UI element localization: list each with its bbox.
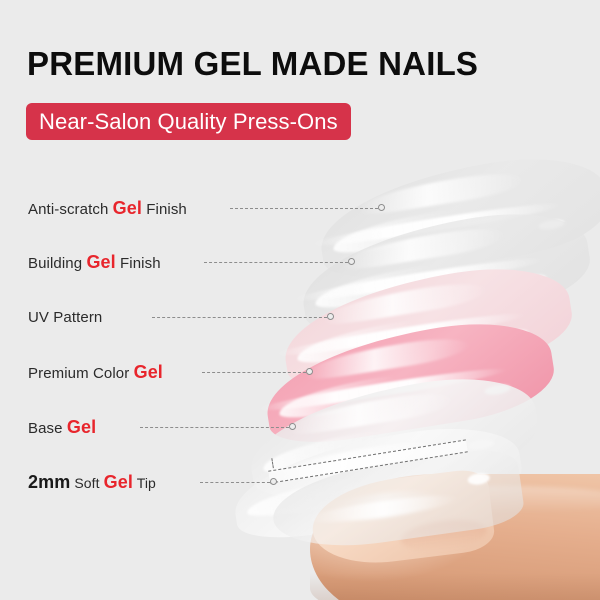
callout-label-premium-color: Premium Color Gel xyxy=(28,363,163,381)
label-highlight: Gel xyxy=(67,417,96,437)
label-suffix: Finish xyxy=(142,201,187,218)
layer-callout-list: Anti-scratch Gel Finish Building Gel Fin… xyxy=(0,0,600,600)
callout-row-base-gel: Base Gel xyxy=(28,416,96,438)
label-highlight: Gel xyxy=(134,362,163,382)
callout-row-building: Building Gel Finish xyxy=(28,251,161,273)
label-prefix: Anti-scratch xyxy=(28,201,113,218)
leader-endpoint-dot-icon xyxy=(327,313,334,320)
label-measurement: 2mm xyxy=(28,472,70,492)
leader-endpoint-dot-icon xyxy=(378,204,385,211)
label-highlight: Gel xyxy=(113,198,142,218)
leader-line xyxy=(152,317,327,318)
leader-line xyxy=(140,427,289,428)
label-highlight: Gel xyxy=(104,472,133,492)
leader-endpoint-dot-icon xyxy=(306,368,313,375)
label-suffix: Finish xyxy=(116,255,161,272)
callout-label-base-gel: Base Gel xyxy=(28,418,96,436)
leader-line xyxy=(230,208,378,209)
callout-label-uv-pattern: UV Pattern xyxy=(28,310,102,325)
leader-endpoint-dot-icon xyxy=(270,478,277,485)
leader-line xyxy=(200,482,270,483)
leader-endpoint-dot-icon xyxy=(289,423,296,430)
callout-row-uv-pattern: UV Pattern xyxy=(28,306,102,328)
label-prefix: Building xyxy=(28,255,86,272)
product-infographic-poster: PREMIUM GEL MADE NAILS Near-Salon Qualit… xyxy=(0,0,600,600)
callout-label-anti-scratch: Anti-scratch Gel Finish xyxy=(28,199,187,217)
callout-row-premium-color: Premium Color Gel xyxy=(28,361,163,383)
label-suffix: Tip xyxy=(133,475,156,491)
leader-endpoint-dot-icon xyxy=(348,258,355,265)
label-highlight: Gel xyxy=(86,252,115,272)
label-prefix: Premium Color xyxy=(28,365,134,382)
leader-line xyxy=(202,372,306,373)
callout-label-soft-gel-tip: 2mm Soft Gel Tip xyxy=(28,473,156,491)
leader-line xyxy=(204,262,348,263)
callout-row-anti-scratch: Anti-scratch Gel Finish xyxy=(28,197,187,219)
label-middle: Soft xyxy=(70,475,103,491)
label-prefix: Base xyxy=(28,420,67,437)
callout-label-building: Building Gel Finish xyxy=(28,253,161,271)
callout-row-soft-gel-tip: 2mm Soft Gel Tip xyxy=(28,471,156,493)
label-prefix: UV Pattern xyxy=(28,309,102,326)
